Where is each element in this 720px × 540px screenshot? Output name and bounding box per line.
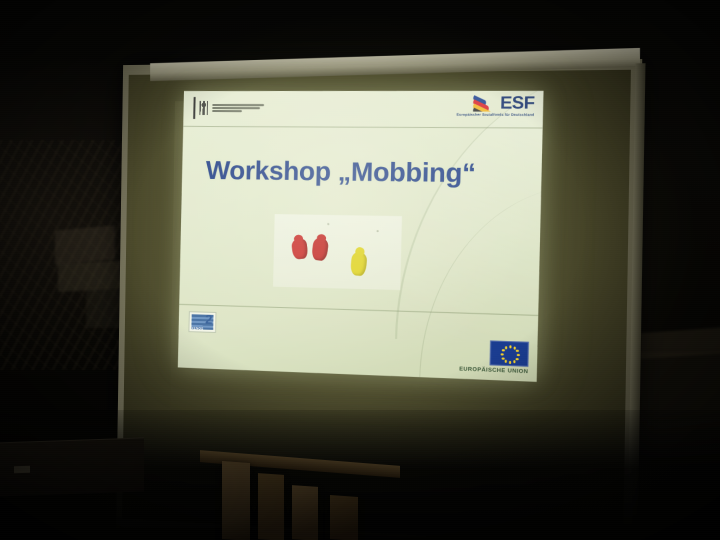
- red-figure-left: [291, 238, 308, 260]
- eu-star-icon: [501, 353, 504, 356]
- eu-star-icon: [505, 360, 508, 363]
- wooden-chair: [330, 495, 358, 540]
- eu-star-icon: [509, 361, 512, 364]
- esf-swoosh-icon: [473, 94, 497, 112]
- eu-star-icon: [517, 354, 520, 357]
- ministry-logo-text: [212, 104, 264, 112]
- slide-divider: [179, 304, 538, 316]
- program-logo-number: 2: [205, 313, 212, 326]
- eu-caption: EUROPÄISCHE UNION: [459, 366, 528, 375]
- ministry-logo: Bundesministerium für Familie, Senioren,…: [193, 97, 267, 119]
- slide-title: Workshop „Mobbing“: [205, 155, 515, 190]
- yellow-figure: [350, 252, 368, 277]
- eu-star-icon: [509, 345, 512, 348]
- program-logo: 2 XENOS: [188, 311, 216, 333]
- eu-star-icon: [516, 350, 519, 353]
- program-logo-wordmark: XENOS: [191, 326, 203, 330]
- eu-star-icon: [516, 358, 519, 361]
- slide-photo: [273, 214, 402, 290]
- esf-wordmark: ESF: [500, 94, 535, 112]
- eu-star-icon: [505, 346, 508, 349]
- red-figure-right: [311, 237, 329, 261]
- background-box: [55, 225, 115, 264]
- esf-subtitle: Europäischer Sozialfonds für Deutschland: [457, 113, 535, 118]
- projected-slide: Bundesministerium für Familie, Senioren,…: [178, 91, 544, 382]
- eu-star-icon: [513, 360, 516, 363]
- eu-logo: EUROPÄISCHE UNION: [426, 338, 529, 375]
- eu-star-icon: [502, 357, 505, 360]
- esf-logo: ESF Europäischer Sozialfonds für Deutsch…: [444, 94, 535, 123]
- wooden-chair: [258, 473, 284, 540]
- wooden-chair: [222, 461, 250, 540]
- german-federal-eagle-icon: [198, 101, 209, 115]
- equipment-case-latch: [14, 466, 30, 474]
- slide-arc-decoration: [395, 91, 544, 348]
- wooden-chair: [292, 485, 318, 540]
- slide-header: Bundesministerium für Familie, Senioren,…: [183, 91, 543, 129]
- eu-flag-icon: [490, 340, 529, 366]
- photo-scene: Bundesministerium für Familie, Senioren,…: [0, 0, 720, 540]
- eu-star-icon: [502, 349, 505, 352]
